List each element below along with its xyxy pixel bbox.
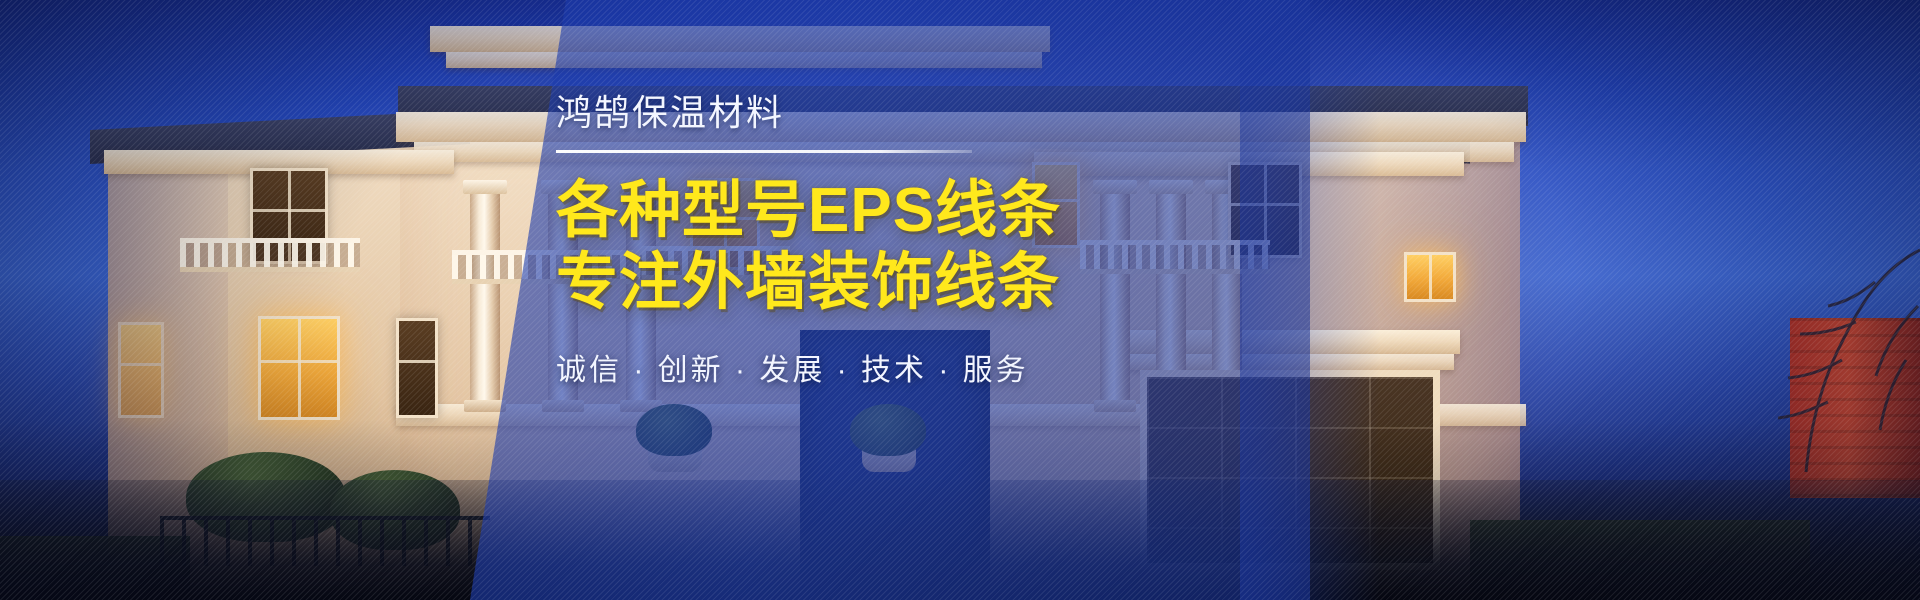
headline-group: 各种型号EPS线条 专注外墙装饰线条 bbox=[556, 175, 1026, 319]
hero-banner: 鸿鹄保温材料 各种型号EPS线条 专注外墙装饰线条 诚信 · 创新 · 发展 ·… bbox=[0, 0, 1920, 600]
headline-line-1: 各种型号EPS线条 bbox=[556, 175, 1026, 247]
headline-line-2: 专注外墙装饰线条 bbox=[556, 247, 1026, 319]
brand-name: 鸿鹄保温材料 bbox=[556, 92, 1026, 134]
banner-copy: 鸿鹄保温材料 各种型号EPS线条 专注外墙装饰线条 诚信 · 创新 · 发展 ·… bbox=[556, 92, 1026, 389]
brand-divider bbox=[556, 150, 972, 153]
tagline: 诚信 · 创新 · 发展 · 技术 · 服务 bbox=[556, 345, 1026, 389]
